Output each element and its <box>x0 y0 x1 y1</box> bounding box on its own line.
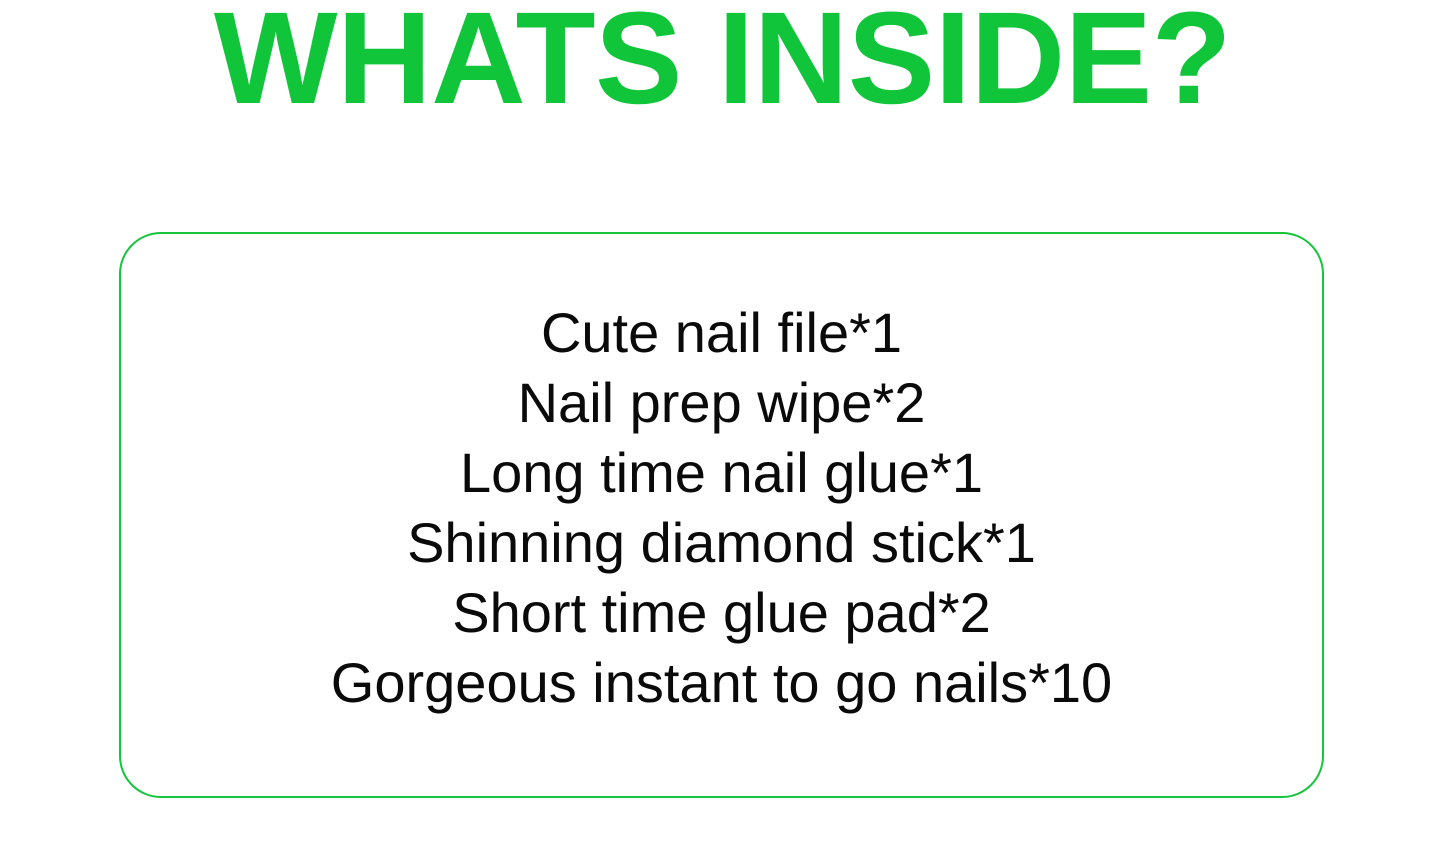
slide-canvas: WHATS INSIDE? Cute nail file*1 Nail prep… <box>0 0 1445 861</box>
page-title: WHATS INSIDE? <box>214 0 1231 133</box>
list-item: Short time glue pad*2 <box>121 578 1322 648</box>
package-contents-list: Cute nail file*1 Nail prep wipe*2 Long t… <box>121 298 1322 718</box>
page-title-container: WHATS INSIDE? <box>0 0 1445 190</box>
contents-card: Cute nail file*1 Nail prep wipe*2 Long t… <box>119 232 1324 798</box>
list-item: Long time nail glue*1 <box>121 438 1322 508</box>
list-item: Shinning diamond stick*1 <box>121 508 1322 578</box>
list-item: Gorgeous instant to go nails*10 <box>121 648 1322 718</box>
list-item: Cute nail file*1 <box>121 298 1322 368</box>
list-item: Nail prep wipe*2 <box>121 368 1322 438</box>
